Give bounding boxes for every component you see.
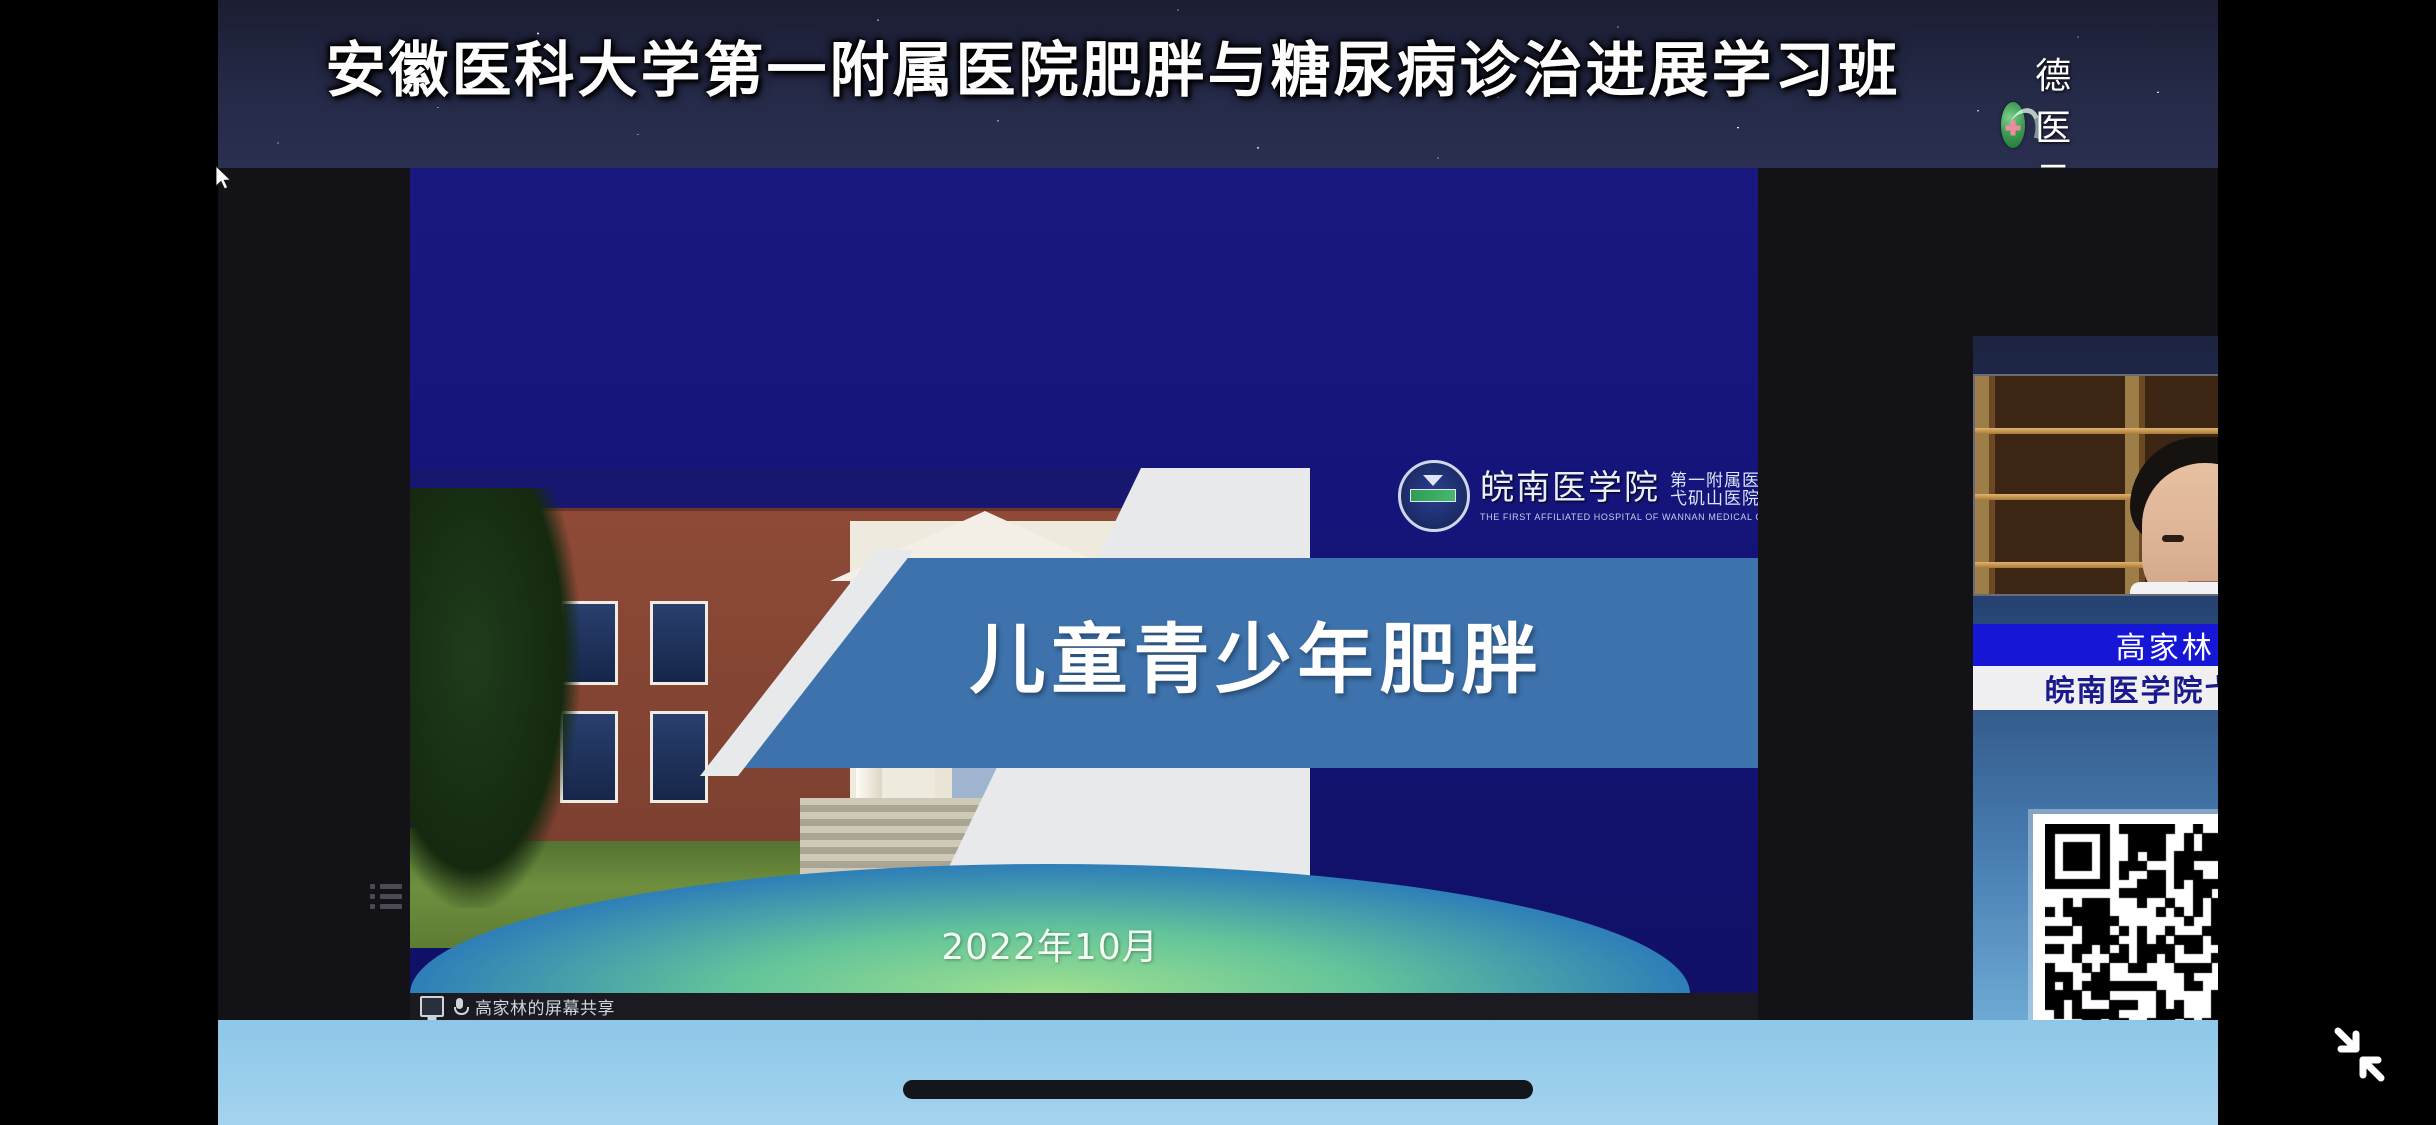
- presenter-video-tile[interactable]: [1973, 374, 2218, 596]
- screen-root: 安徽医科大学第一附属医院肥胖与糖尿病诊治进展学习班 德医云: [0, 0, 2436, 1125]
- presenter-affiliation: 皖南医学院弋矶山医院: [2045, 666, 2219, 710]
- slide-title: 儿童青少年肥胖: [755, 598, 1758, 708]
- screen-share-viewport[interactable]: 皖南医学院 第一附属医院 弋矶山医院 THE FIRST AFFILIATED …: [410, 168, 1758, 1020]
- page-title: 安徽医科大学第一附属医院肥胖与糖尿病诊治进展学习班: [218, 22, 2008, 109]
- stage-area: 皖南医学院 第一附属医院 弋矶山医院 THE FIRST AFFILIATED …: [218, 168, 2218, 1020]
- right-panel: 高家林 主任 皖南医学院弋矶山医院 请扫描二维码填写资料获取学分: [1973, 336, 2218, 1125]
- presentation-slide: 皖南医学院 第一附属医院 弋矶山医院 THE FIRST AFFILIATED …: [410, 168, 1758, 1020]
- microphone-icon: [453, 998, 466, 1016]
- bottom-bar: [218, 1020, 2218, 1125]
- exit-fullscreen-icon[interactable]: [2325, 1020, 2393, 1088]
- presenter-name-bar: 高家林 主任: [1973, 624, 2218, 666]
- header-banner: 安徽医科大学第一附属医院肥胖与糖尿病诊治进展学习班 德医云: [218, 0, 2218, 168]
- horizontal-scrollbar-track[interactable]: [218, 1080, 2218, 1102]
- hospital-name-cn: 皖南医学院: [1480, 460, 1660, 509]
- presenter-name: 高家林 主任: [2116, 623, 2218, 667]
- screen-share-label: 高家林的屏幕共享: [475, 994, 615, 1019]
- hospital-emblem-icon: [1398, 460, 1470, 532]
- slide-date: 2022年10月: [410, 918, 1690, 970]
- hospital-sub-line-2: 弋矶山医院: [1670, 491, 1758, 509]
- list-menu-icon[interactable]: [370, 884, 402, 910]
- live-stream-app-window: 安徽医科大学第一附属医院肥胖与糖尿病诊治进展学习班 德医云: [218, 0, 2218, 1125]
- monitor-icon: [420, 996, 444, 1017]
- deyiyun-logo-icon: [2001, 102, 2025, 148]
- slide-hospital-logo: 皖南医学院 第一附属医院 弋矶山医院 THE FIRST AFFILIATED …: [1398, 460, 1758, 532]
- screen-share-status-bar: 高家林的屏幕共享: [410, 993, 1758, 1020]
- horizontal-scrollbar-thumb[interactable]: [903, 1080, 1533, 1099]
- presenter-avatar: [2116, 437, 2219, 596]
- presenter-affiliation-bar: 皖南医学院弋矶山医院: [1973, 666, 2218, 710]
- hospital-name-en: THE FIRST AFFILIATED HOSPITAL OF WANNAN …: [1480, 512, 1758, 522]
